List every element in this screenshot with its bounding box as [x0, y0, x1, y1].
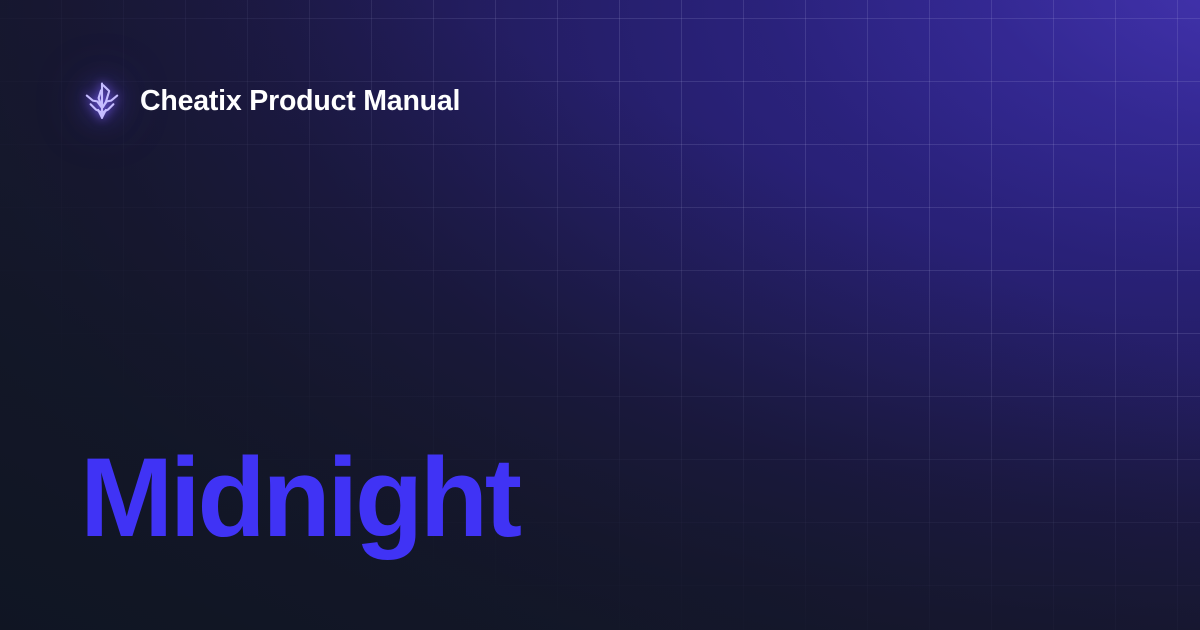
- brand-lockup: Cheatix Product Manual: [80, 75, 460, 127]
- og-card: Cheatix Product Manual Midnight: [0, 0, 1200, 630]
- page-title: Midnight: [80, 442, 518, 554]
- cheatix-trident-arrow-icon: [80, 79, 124, 123]
- card-content: Cheatix Product Manual Midnight: [0, 0, 1200, 630]
- brand-title: Cheatix Product Manual: [140, 87, 460, 116]
